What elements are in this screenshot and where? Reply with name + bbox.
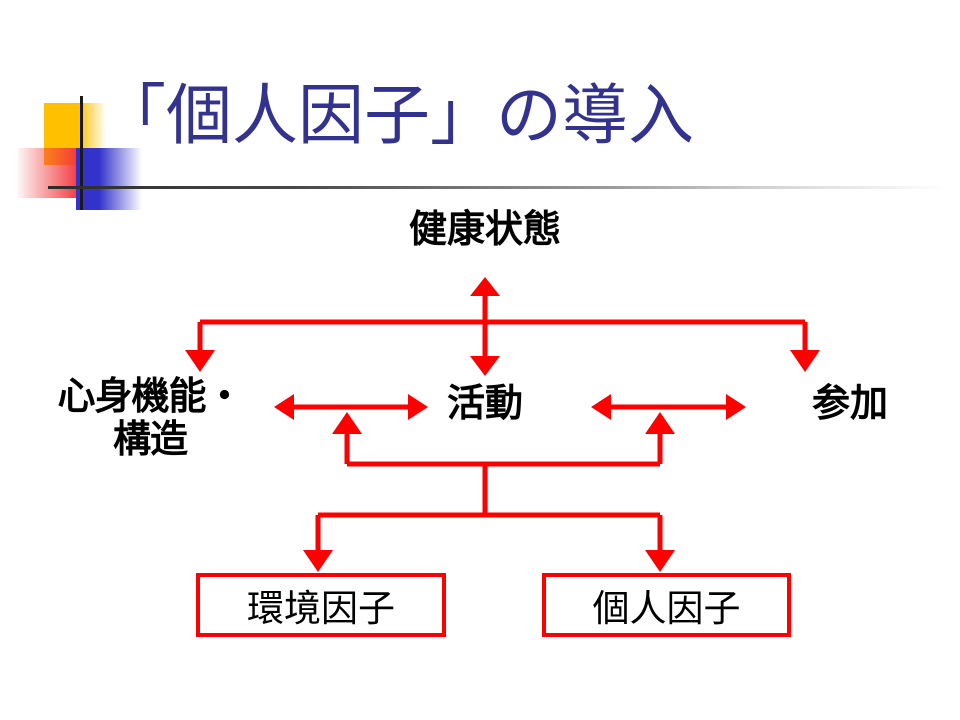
arrowhead-up-right	[645, 412, 675, 434]
arrowhead-health-to-activity	[470, 356, 500, 376]
arrowhead-health-to-body	[185, 350, 215, 372]
diagram-connectors	[0, 0, 960, 720]
node-environmental-factors: 環境因子	[196, 573, 446, 637]
arrowhead-to-activity-right	[591, 394, 611, 420]
arrowhead-to-personal	[645, 550, 675, 572]
node-personal-factors: 個人因子	[542, 573, 791, 637]
node-body-functions-structures: 心身機能・ 構造	[20, 375, 280, 460]
arrowhead-activity-to-health	[470, 277, 500, 296]
node-participation: 参加	[760, 382, 940, 425]
node-health-condition: 健康状態	[370, 208, 600, 251]
arrowhead-health-to-participation	[790, 350, 820, 372]
arrowhead-up-left	[332, 412, 362, 434]
arrowhead-to-participation	[726, 394, 746, 420]
icf-diagram: 健康状態 心身機能・ 構造 活動 参加 環境因子 個人因子	[0, 0, 960, 720]
node-activity: 活動	[410, 382, 560, 425]
slide-canvas: 「個人因子」の導入	[0, 0, 960, 720]
arrowhead-to-environment	[303, 550, 333, 572]
